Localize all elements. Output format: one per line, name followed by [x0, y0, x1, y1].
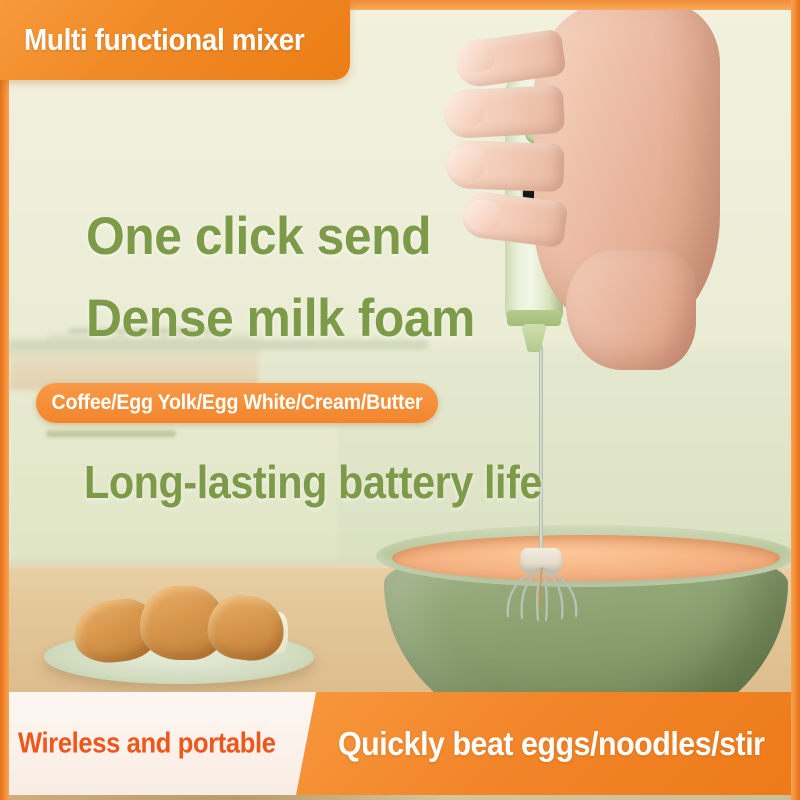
frame-right — [791, 0, 800, 800]
headline-line-3: Long-lasting battery life — [84, 455, 542, 509]
top-title-label: Multi functional mixer — [24, 22, 304, 58]
whisk-wires-icon — [496, 566, 588, 622]
fingernail — [447, 145, 486, 181]
croissant-bread — [70, 578, 288, 664]
product-advertisement: 27 One click send Dense milk foam Coffee… — [0, 0, 800, 800]
bottom-bar-right-panel: Quickly beat eggs/noodles/stir — [296, 692, 800, 795]
headline-line-1: One click send — [86, 206, 431, 267]
bottom-bar-right-label: Quickly beat eggs/noodles/stir — [338, 725, 765, 763]
headline-line-2: Dense milk foam — [86, 288, 475, 349]
bottom-photo-strip — [0, 795, 800, 800]
ingredients-badge-label: Coffee/Egg Yolk/Egg White/Cream/Butter — [52, 391, 423, 415]
bottom-bar-left-panel: Wireless and portable — [0, 692, 340, 795]
cabinet-handle-blur — [46, 430, 176, 437]
top-title-banner: Multi functional mixer — [0, 0, 350, 80]
ingredients-badge: Coffee/Egg Yolk/Egg White/Cream/Butter — [36, 383, 438, 423]
bottom-bar-left-label: Wireless and portable — [18, 727, 276, 760]
fingernail — [445, 91, 485, 128]
thumb — [566, 250, 696, 370]
bottom-feature-bar: Wireless and portable Quickly beat eggs/… — [0, 692, 800, 795]
